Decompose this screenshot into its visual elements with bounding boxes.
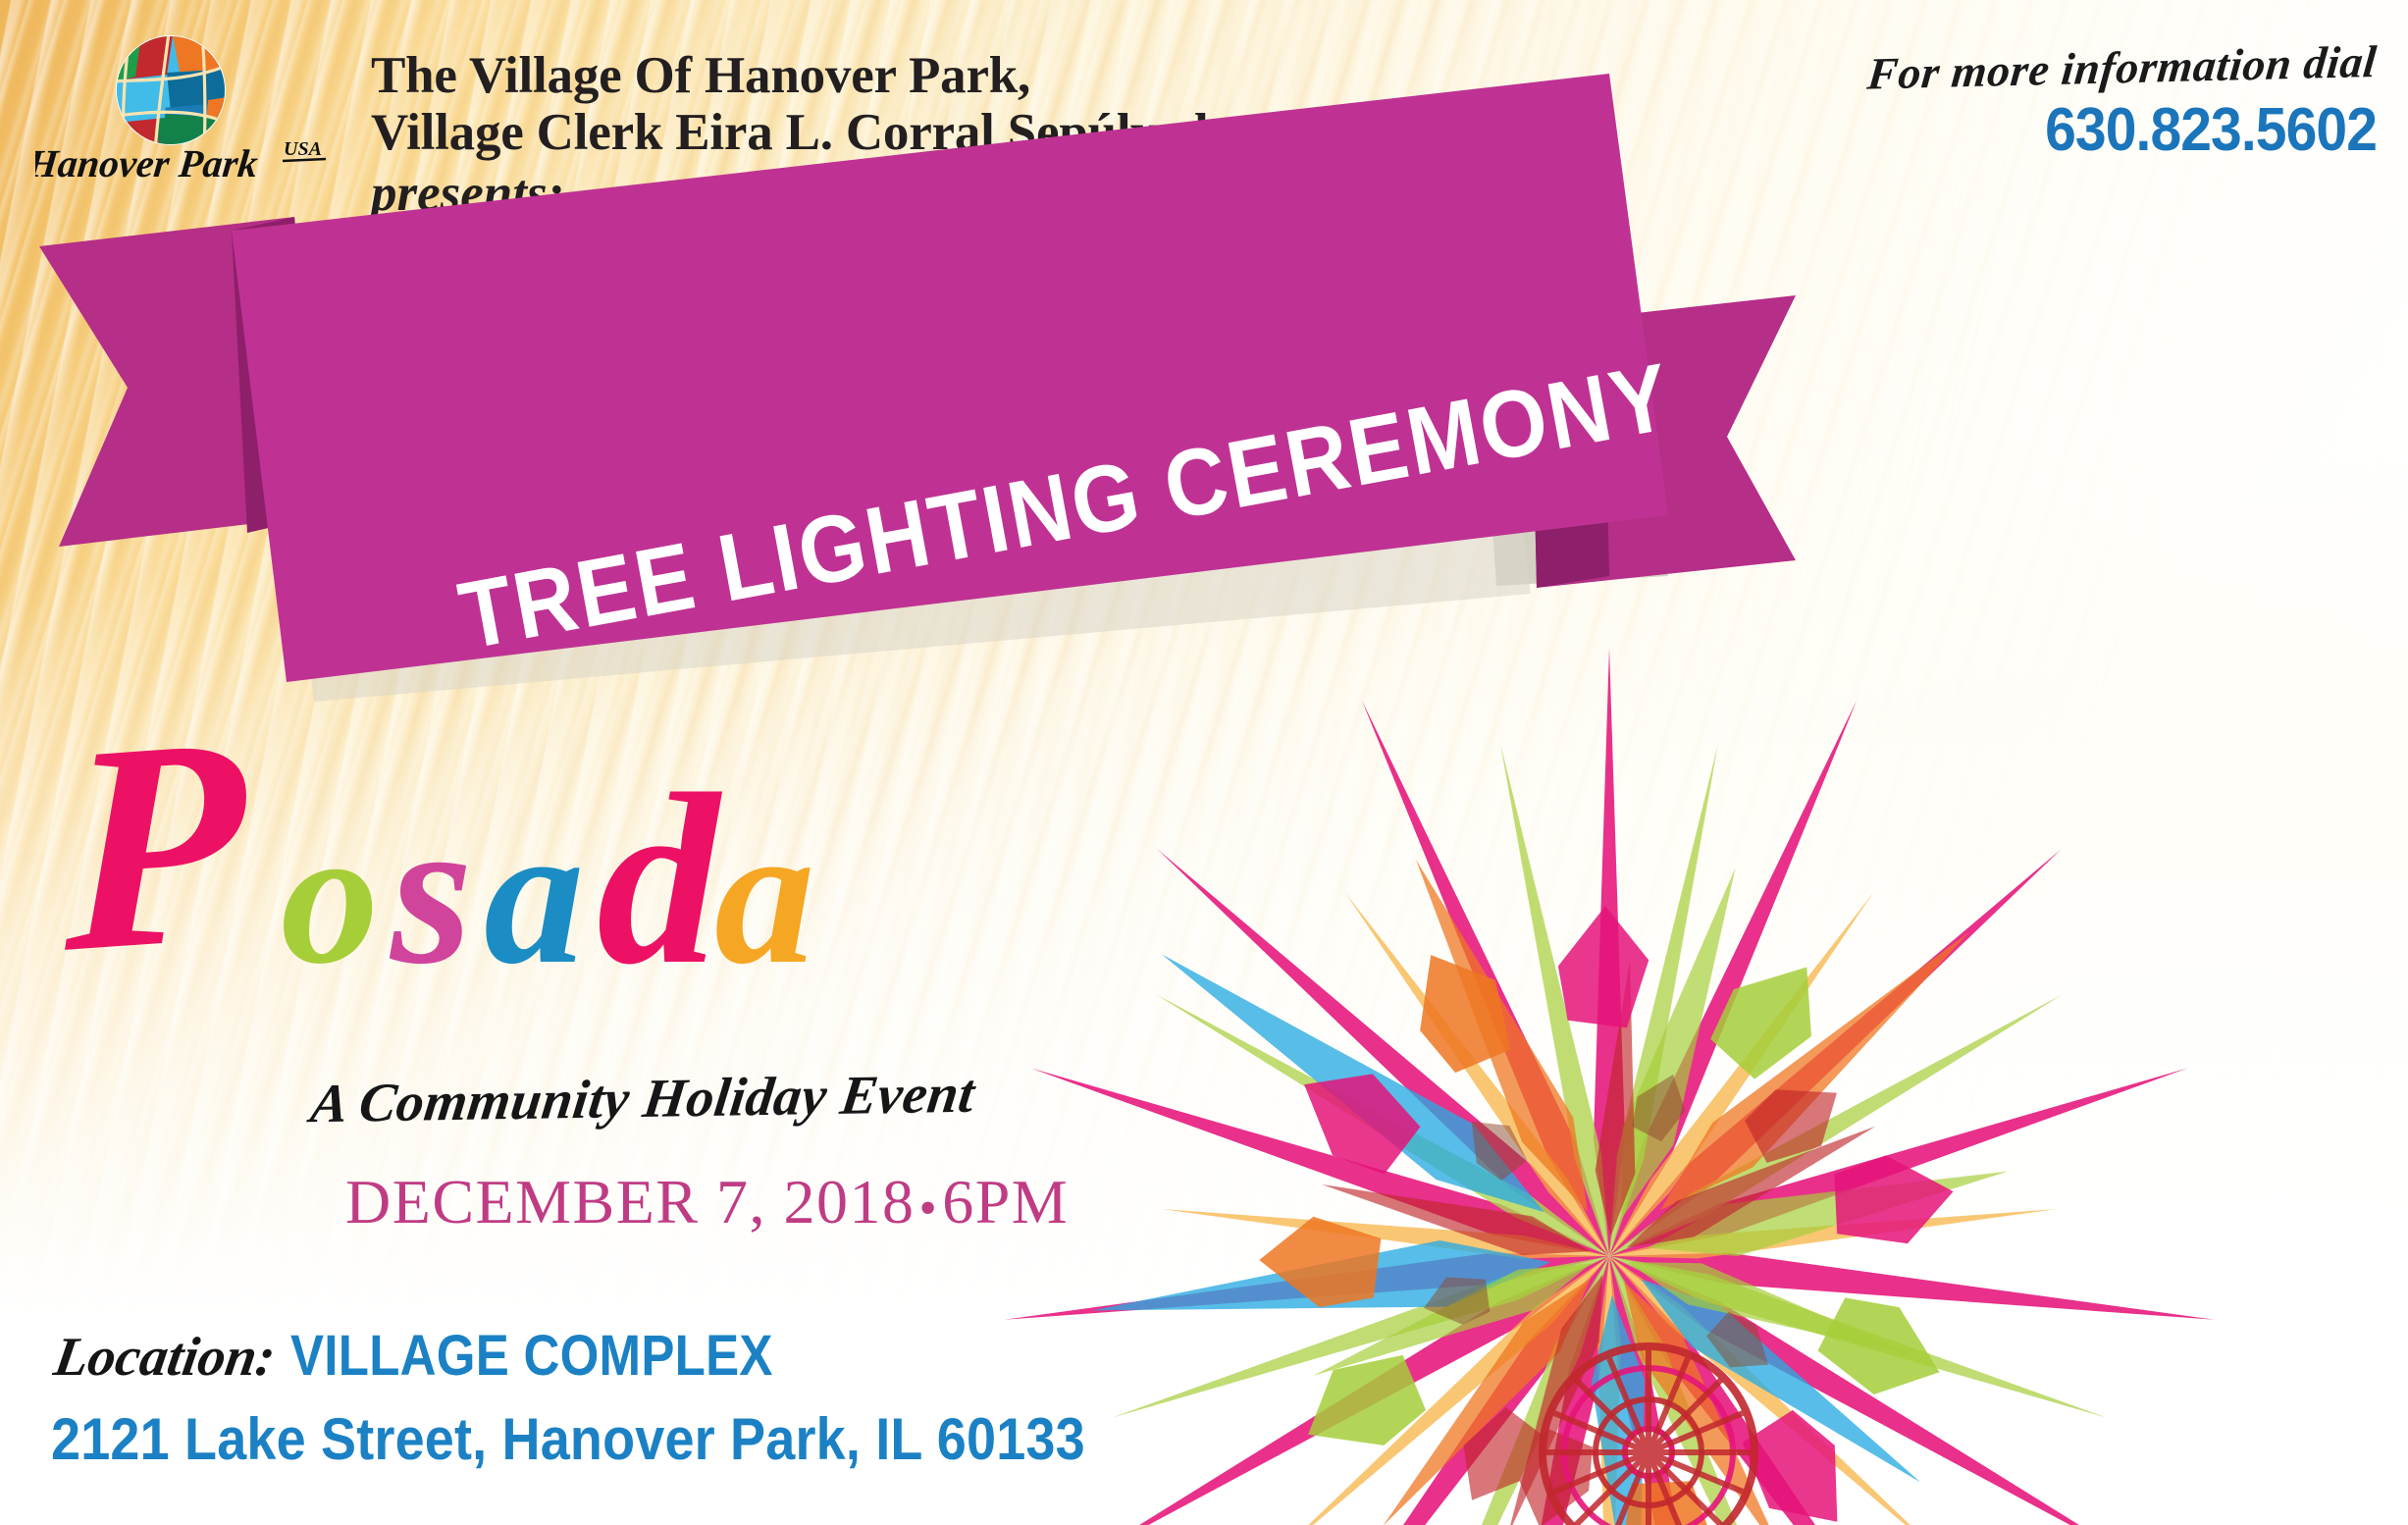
event-date-text: DECEMBER 7, 2018: [345, 1167, 915, 1236]
location-label: Location:: [50, 1326, 280, 1389]
posada-letter-a: a: [484, 783, 585, 1006]
location-venue: VILLAGE COMPLEX: [290, 1323, 773, 1389]
logo-circle-icon: [96, 33, 234, 151]
posada-wordmark: P o s a d a: [86, 699, 812, 1023]
event-time-text: 6PM: [942, 1167, 1069, 1236]
phone-number[interactable]: 630.823.5602: [1727, 95, 2377, 165]
hanover-park-logo: Hanover Park USA: [35, 33, 349, 190]
posada-letter-d: d: [597, 744, 723, 1016]
posada-letter-P: P: [61, 673, 249, 1014]
event-date: DECEMBER 7, 2018•6PM: [345, 1166, 1069, 1238]
poster-canvas: Hanover Park USA The Village Of Hanover …: [0, 0, 2408, 1525]
dial-label: For more information dial: [1665, 35, 2379, 105]
svg-text:USA: USA: [284, 138, 322, 160]
contact-info: For more information dial 630.823.5602: [1670, 35, 2377, 165]
event-subtitle: A Community Holiday Event: [307, 1063, 978, 1136]
svg-text:Hanover Park: Hanover Park: [35, 141, 260, 185]
posada-letter-a2: a: [714, 783, 815, 1006]
location-address: 2121 Lake Street, Hanover Park, IL 60133: [51, 1405, 1085, 1473]
date-separator-dot: •: [915, 1181, 942, 1236]
posada-letter-o: o: [281, 788, 379, 1005]
location-line-1: Location: VILLAGE COMPLEX: [55, 1323, 839, 1389]
posada-letter-s: s: [389, 773, 473, 1008]
logo-wordmark: Hanover Park USA: [35, 138, 326, 185]
tree-lighting-ribbon: TREE LIGHTING CEREMONY: [0, 191, 2120, 741]
